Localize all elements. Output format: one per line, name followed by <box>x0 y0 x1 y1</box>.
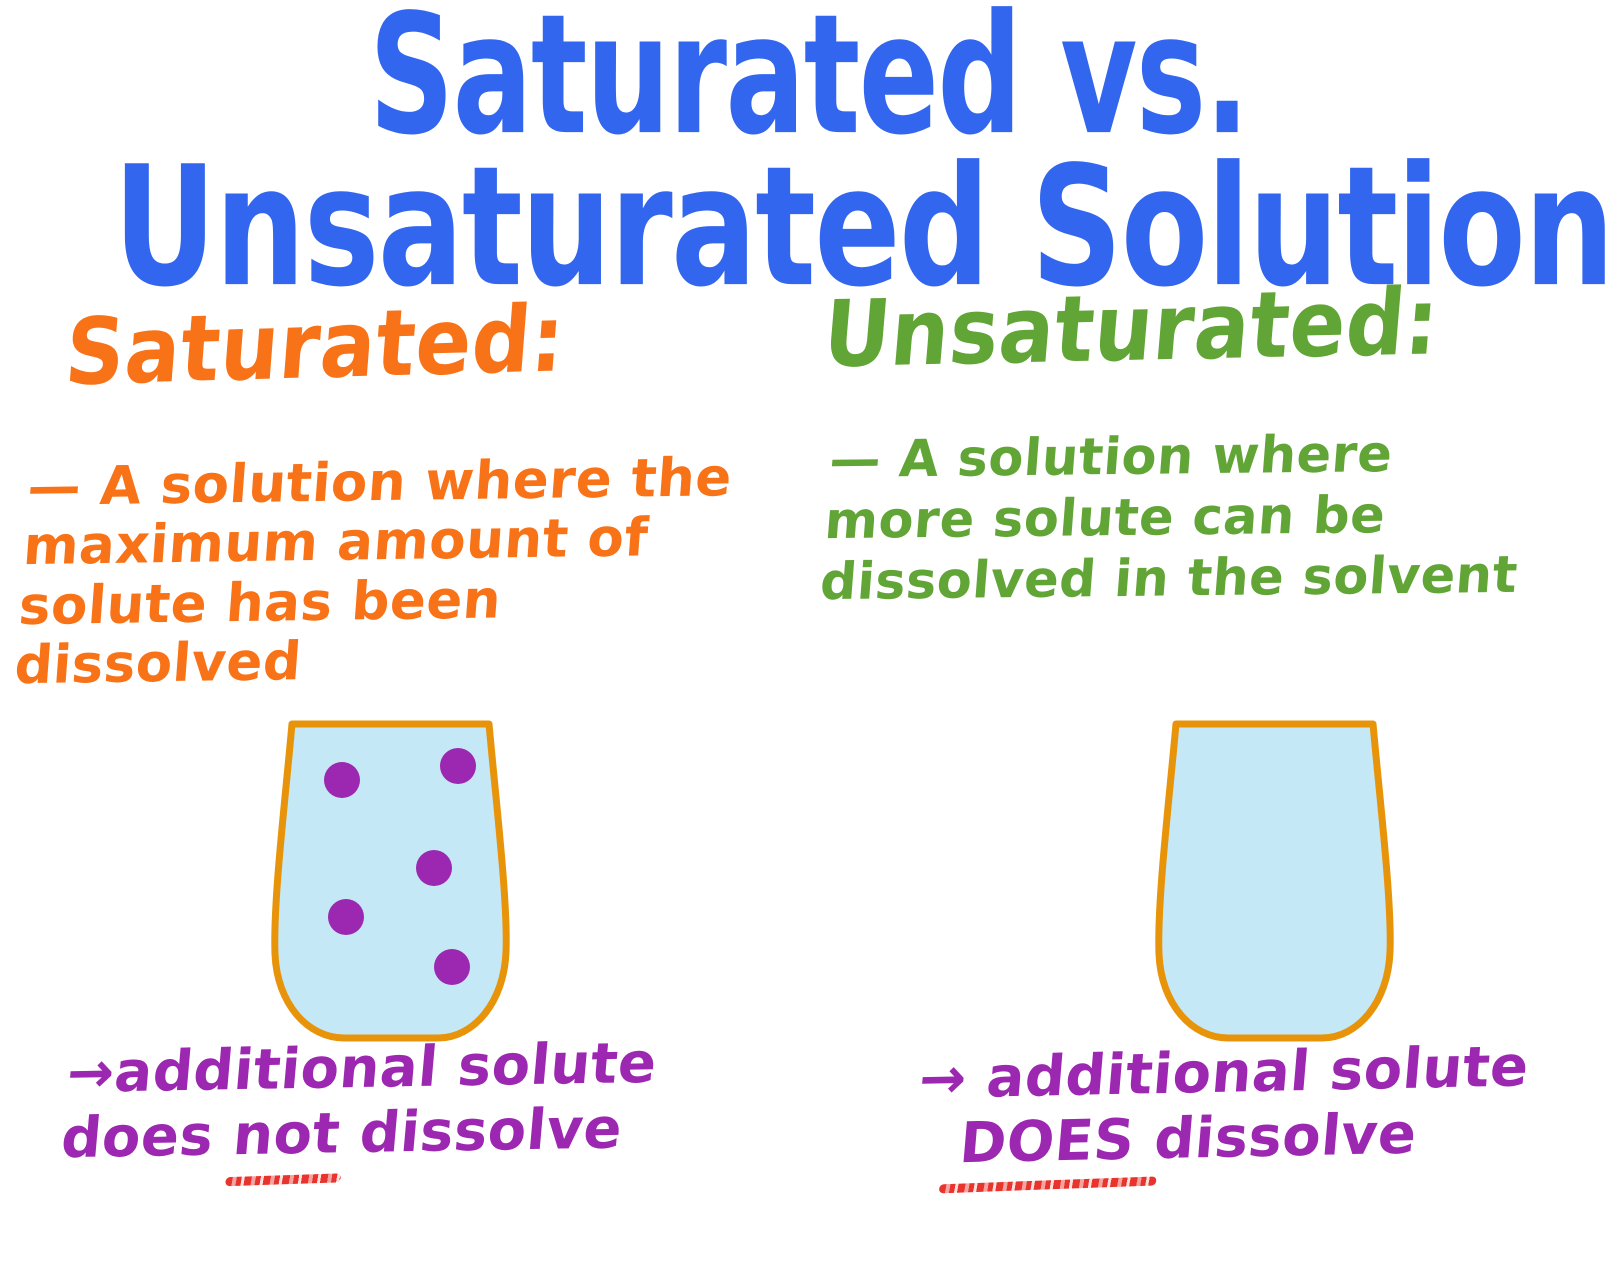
unsaturated-beaker-svg <box>1152 716 1397 1046</box>
solute-particle <box>328 899 364 935</box>
saturated-beaker-svg <box>268 716 513 1046</box>
unsaturated-heading: Unsaturated: <box>820 277 1442 382</box>
saturated-caption-emphasis: not <box>230 1102 342 1169</box>
saturated-caption-line-1: →additional solute <box>64 1032 659 1107</box>
saturated-heading: Saturated: <box>62 294 568 400</box>
unsaturated-caption-line-2: DOES dissolve <box>911 1100 1526 1178</box>
solute-particle <box>440 748 476 784</box>
unsaturated-caption-line-1-text: additional solute <box>984 1034 1531 1110</box>
unsaturated-definition: — A solution where more solute can be di… <box>818 423 1532 614</box>
arrow-right-icon: → <box>917 1047 970 1113</box>
saturated-definition: — A solution where the maximum amount of… <box>13 448 750 696</box>
saturated-caption: →additional solute does not dissolve <box>59 1032 660 1172</box>
solute-particle <box>434 949 470 985</box>
unsaturated-caption: → additional solute DOES dissolve <box>911 1035 1531 1178</box>
saturated-beaker <box>268 716 513 1050</box>
unsaturated-caption-emphasis: DOES <box>957 1108 1137 1177</box>
arrow-right-icon: → <box>64 1041 117 1107</box>
beaker-glass-shape <box>1159 724 1390 1038</box>
unsaturated-beaker <box>1152 716 1397 1050</box>
saturated-caption-line-2-pre: does <box>59 1103 237 1171</box>
unsaturated-caption-line-2-post: dissolve <box>1132 1102 1420 1173</box>
solute-particle <box>416 850 452 886</box>
page-title: Saturated vs. Unsaturated Solutions <box>0 0 1617 298</box>
saturated-caption-line-1-text: additional solute <box>112 1031 660 1106</box>
saturated-caption-line-2-post: dissolve <box>337 1096 625 1166</box>
saturated-caption-line-2: does not dissolve <box>59 1097 654 1172</box>
solute-particle <box>324 762 360 798</box>
unsaturated-caption-line-1: → additional solute <box>917 1035 1532 1113</box>
